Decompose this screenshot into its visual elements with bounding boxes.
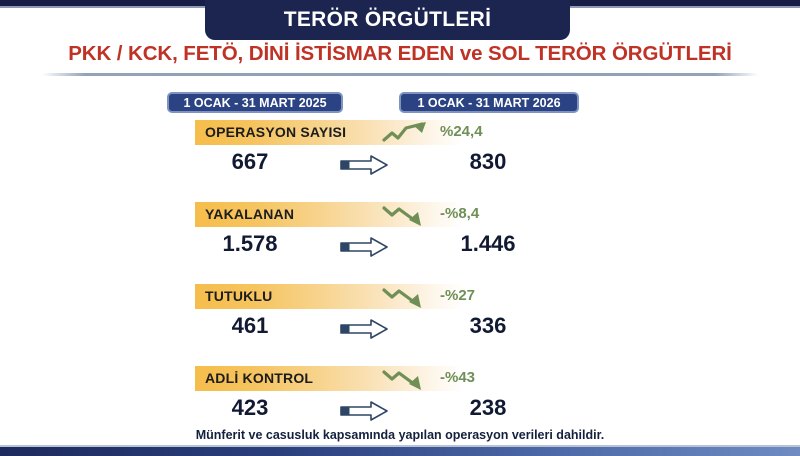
metric-row: YAKALANAN -%8,4 1.578 1.446: [0, 202, 800, 284]
bottom-accent-bar: [0, 447, 800, 456]
metric-row: TUTUKLU -%27 461 336: [0, 284, 800, 366]
period-label-right: 1 OCAK - 31 MART 2026: [417, 96, 560, 110]
period-label-left: 1 OCAK - 31 MART 2025: [183, 96, 326, 110]
value-previous: 1.578: [190, 231, 310, 257]
right-arrow-icon: [335, 154, 395, 176]
trend-down-arrow-icon: [380, 284, 436, 310]
value-current: 830: [428, 149, 548, 175]
change-percent: -%43: [440, 369, 475, 386]
value-current: 1.446: [428, 231, 548, 257]
trend-down-arrow-icon: [380, 202, 436, 228]
header-divider: [42, 73, 758, 76]
change-percent: -%8,4: [440, 205, 479, 222]
page-title: TERÖR ÖRGÜTLERİ: [284, 8, 492, 32]
right-arrow-icon: [335, 400, 395, 422]
page-subtitle: PKK / KCK, FETÖ, DİNİ İSTİSMAR EDEN ve S…: [0, 42, 800, 66]
infographic-page: TERÖR ÖRGÜTLERİ PKK / KCK, FETÖ, DİNİ İS…: [0, 0, 800, 456]
value-previous: 461: [190, 313, 310, 339]
period-badge-right: 1 OCAK - 31 MART 2026: [399, 92, 579, 113]
trend-down-arrow-icon: [380, 366, 436, 392]
title-banner: TERÖR ÖRGÜTLERİ: [205, 0, 570, 40]
value-previous: 667: [190, 149, 310, 175]
change-percent: -%27: [440, 287, 475, 304]
metric-label: YAKALANAN: [205, 206, 294, 222]
change-percent: %24,4: [440, 123, 483, 140]
value-current: 238: [428, 395, 548, 421]
metric-row: OPERASYON SAYISI %24,4 667 830: [0, 120, 800, 202]
value-current: 336: [428, 313, 548, 339]
metric-label: ADLİ KONTROL: [205, 370, 313, 386]
period-badge-left: 1 OCAK - 31 MART 2025: [167, 92, 343, 113]
metric-label: OPERASYON SAYISI: [205, 124, 346, 140]
right-arrow-icon: [335, 236, 395, 258]
footnote: Münferit ve casusluk kapsamında yapılan …: [0, 428, 800, 442]
metric-label: TUTUKLU: [205, 288, 273, 304]
value-previous: 423: [190, 395, 310, 421]
trend-up-arrow-icon: [380, 120, 436, 146]
right-arrow-icon: [335, 318, 395, 340]
